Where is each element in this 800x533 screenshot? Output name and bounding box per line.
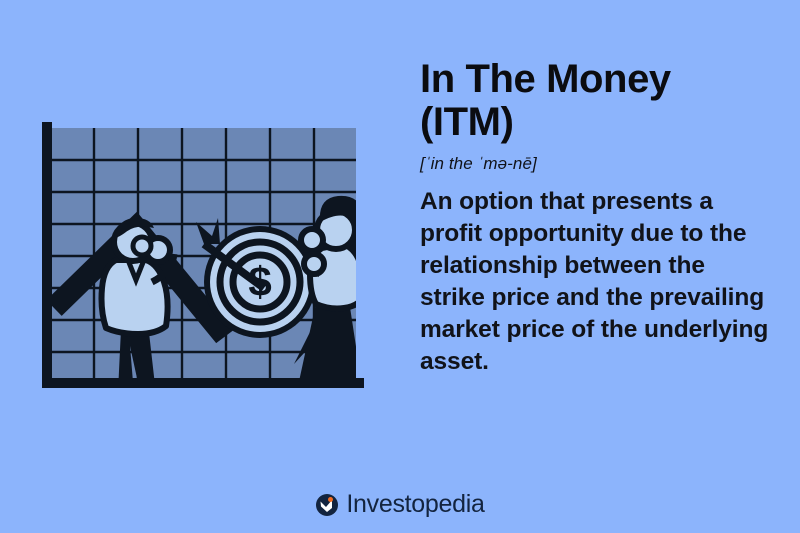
brand-footer: Investopedia	[0, 492, 800, 517]
brand-wordmark: Investopedia	[346, 492, 484, 517]
definition-text: An option that presents a profit opportu…	[420, 186, 772, 377]
itm-definition-card: $	[0, 0, 800, 533]
term-title: In The Money (ITM)	[420, 58, 772, 144]
investopedia-logo-icon	[315, 493, 339, 517]
illustration: $	[18, 96, 402, 436]
pronunciation-text: [ˈin the ˈmə-nē]	[420, 154, 772, 174]
definition-panel: In The Money (ITM) [ˈin the ˈmə-nē] An o…	[420, 58, 772, 377]
illustration-svg: $	[18, 96, 402, 436]
